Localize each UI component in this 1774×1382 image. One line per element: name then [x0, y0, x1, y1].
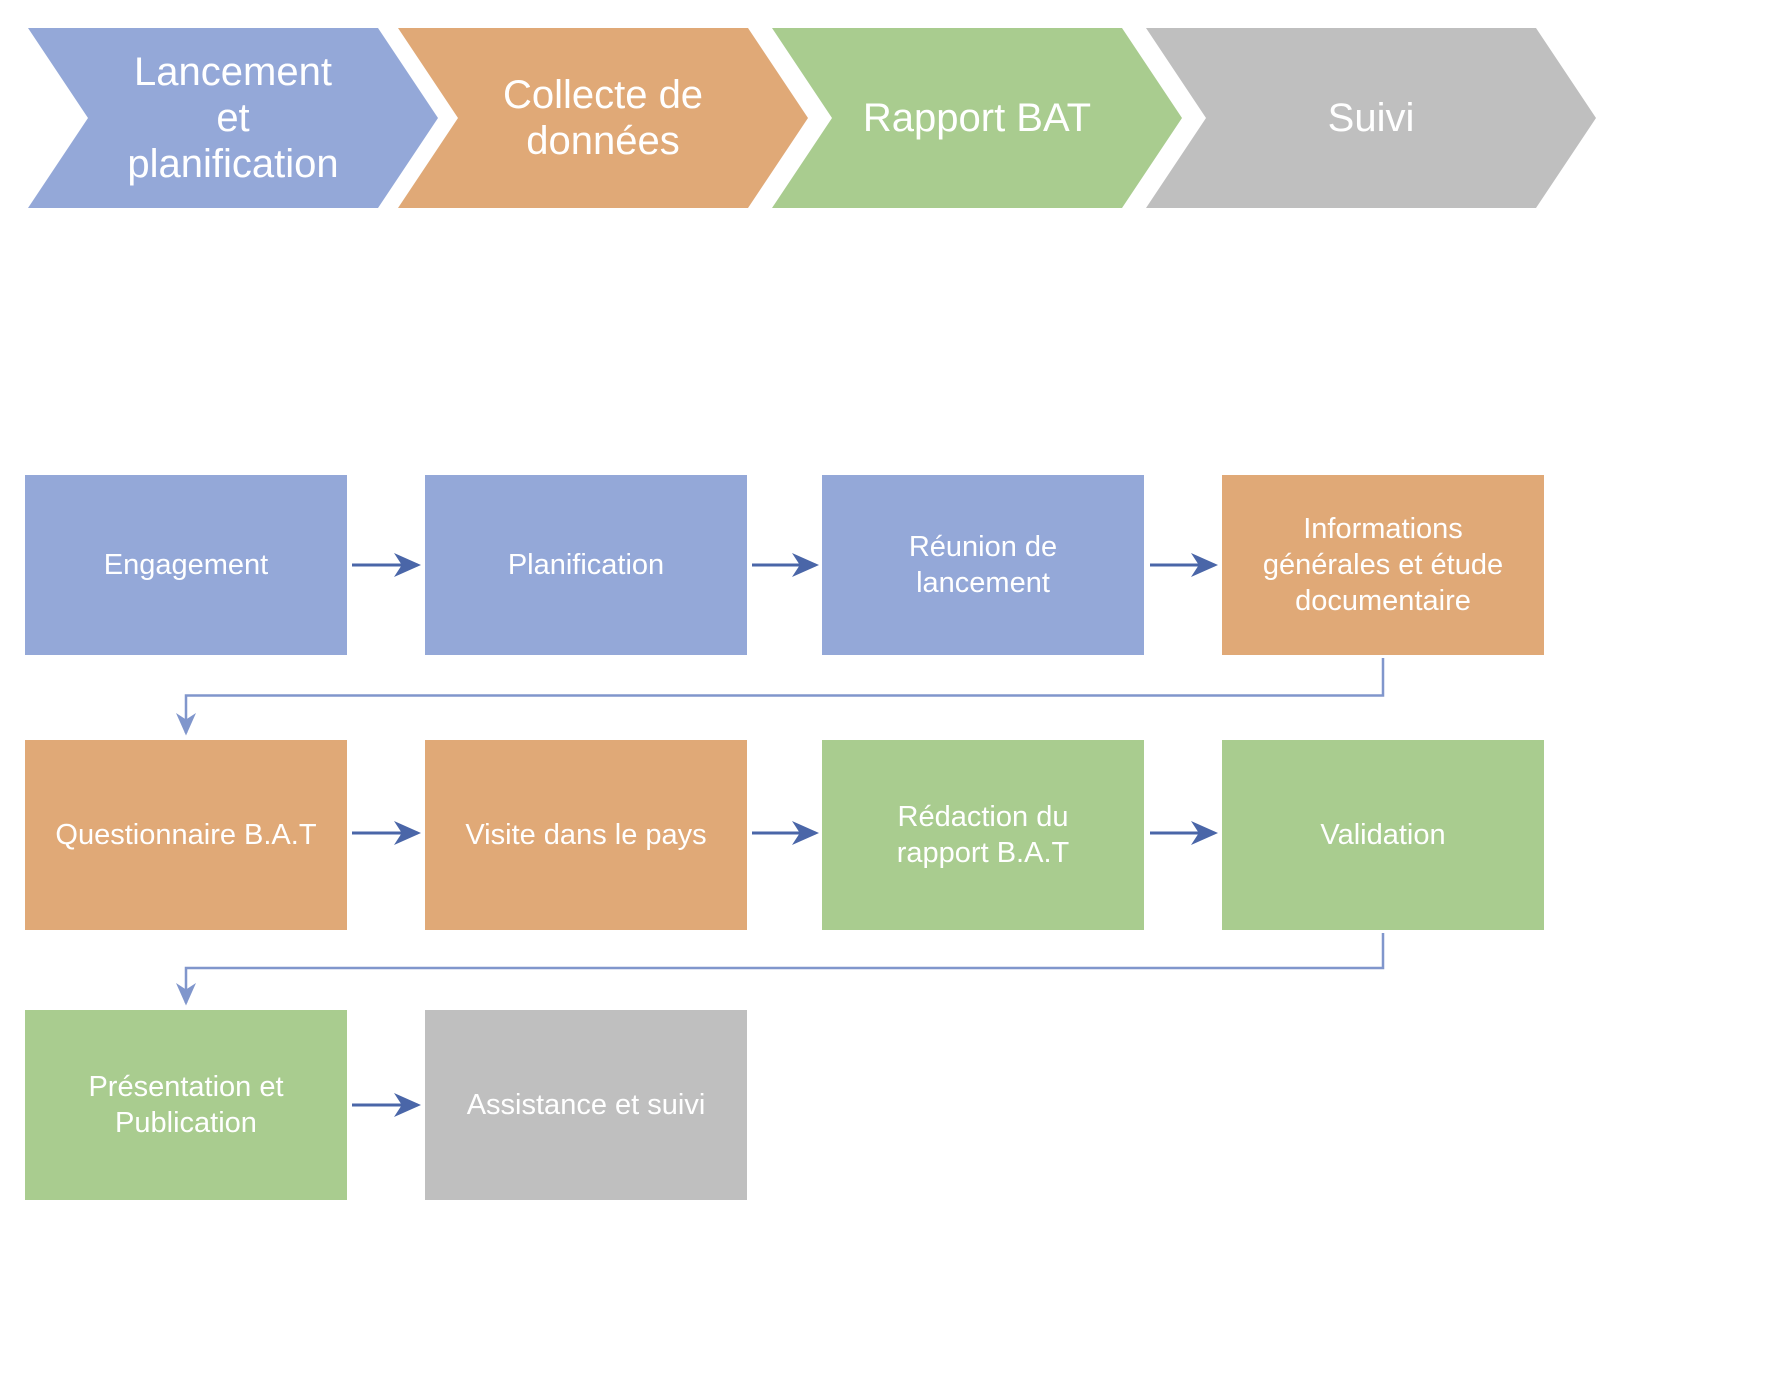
stage-lancement-planification-label: Lancement et planification — [127, 49, 338, 187]
node-validation[interactable]: Validation — [1222, 740, 1544, 930]
node-assistance-suivi[interactable]: Assistance et suivi — [425, 1010, 747, 1200]
node-planification-label: Planification — [508, 547, 664, 583]
stage-lancement-planification[interactable]: Lancement et planification — [28, 28, 438, 208]
arrow-validation-to-presentation — [186, 933, 1383, 1003]
node-informations-generales[interactable]: Informations générales et étude document… — [1222, 475, 1544, 655]
node-engagement[interactable]: Engagement — [25, 475, 347, 655]
node-reunion-lancement-label: Réunion de lancement — [909, 529, 1057, 602]
node-redaction-rapport-label: Rédaction du rapport B.A.T — [897, 799, 1069, 872]
node-presentation-publication[interactable]: Présentation et Publication — [25, 1010, 347, 1200]
node-planification[interactable]: Planification — [425, 475, 747, 655]
node-visite-pays[interactable]: Visite dans le pays — [425, 740, 747, 930]
stage-collecte-donnees[interactable]: Collecte de données — [398, 28, 808, 208]
process-phase-banner: Lancement et planificationCollecte de do… — [0, 28, 1774, 208]
node-visite-pays-label: Visite dans le pays — [465, 817, 706, 853]
node-validation-label: Validation — [1320, 817, 1445, 853]
node-engagement-label: Engagement — [104, 547, 268, 583]
node-questionnaire-bat-label: Questionnaire B.A.T — [55, 817, 316, 853]
stage-rapport-bat[interactable]: Rapport BAT — [772, 28, 1182, 208]
node-questionnaire-bat[interactable]: Questionnaire B.A.T — [25, 740, 347, 930]
node-assistance-suivi-label: Assistance et suivi — [467, 1087, 706, 1123]
stage-suivi-label: Suivi — [1328, 95, 1415, 141]
node-reunion-lancement[interactable]: Réunion de lancement — [822, 475, 1144, 655]
node-presentation-publication-label: Présentation et Publication — [88, 1069, 283, 1142]
stage-rapport-bat-label: Rapport BAT — [863, 95, 1091, 141]
arrow-informations-to-questionnaire — [186, 658, 1383, 733]
stage-suivi[interactable]: Suivi — [1146, 28, 1596, 208]
stage-collecte-donnees-label: Collecte de données — [503, 72, 703, 164]
node-redaction-rapport[interactable]: Rédaction du rapport B.A.T — [822, 740, 1144, 930]
node-informations-generales-label: Informations générales et étude document… — [1263, 511, 1503, 620]
